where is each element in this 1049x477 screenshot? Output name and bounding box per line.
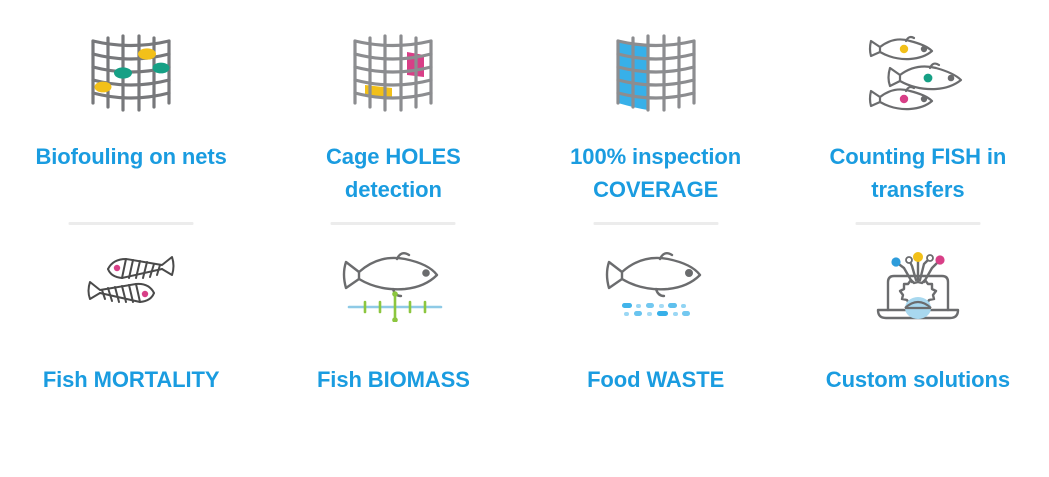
feature-card-custom-solutions[interactable]: Custom solutions — [787, 233, 1049, 477]
three-fish-counting-icon — [866, 18, 970, 128]
net-mesh-holes-icon — [345, 18, 441, 128]
feature-card-food-waste[interactable]: Food WASTE — [525, 233, 787, 477]
laptop-gear-network-icon — [868, 233, 968, 333]
feature-card-inspection-coverage[interactable]: 100% inspection COVERAGE — [525, 18, 787, 233]
feature-label: 100% inspection COVERAGE — [551, 140, 761, 207]
fish-measuring-scale-icon — [337, 233, 449, 333]
feature-label: Food WASTE — [587, 363, 724, 396]
feature-card-counting-fish-in-transfers[interactable]: Counting FISH in transfers — [787, 18, 1049, 233]
feature-label: Custom solutions — [826, 363, 1010, 396]
fish-skeleton-mortality-icon — [76, 233, 186, 333]
net-mesh-biofouling-icon — [83, 18, 179, 128]
net-mesh-coverage-icon — [608, 18, 704, 128]
feature-card-biofouling-on-nets[interactable]: Biofouling on nets — [0, 18, 262, 233]
feature-card-fish-mortality[interactable]: Fish MORTALITY — [0, 233, 262, 477]
feature-label: Fish MORTALITY — [43, 363, 220, 396]
features-grid: Biofouling on nets — [0, 0, 1049, 459]
fish-feed-pellets-icon — [602, 233, 710, 333]
feature-card-cage-holes-detection[interactable]: Cage HOLES detection — [262, 18, 524, 233]
feature-label: Counting FISH in transfers — [813, 140, 1023, 207]
feature-label: Fish BIOMASS — [317, 363, 470, 396]
feature-label: Biofouling on nets — [35, 140, 226, 173]
feature-card-fish-biomass[interactable]: Fish BIOMASS — [262, 233, 524, 477]
feature-label: Cage HOLES detection — [288, 140, 498, 207]
